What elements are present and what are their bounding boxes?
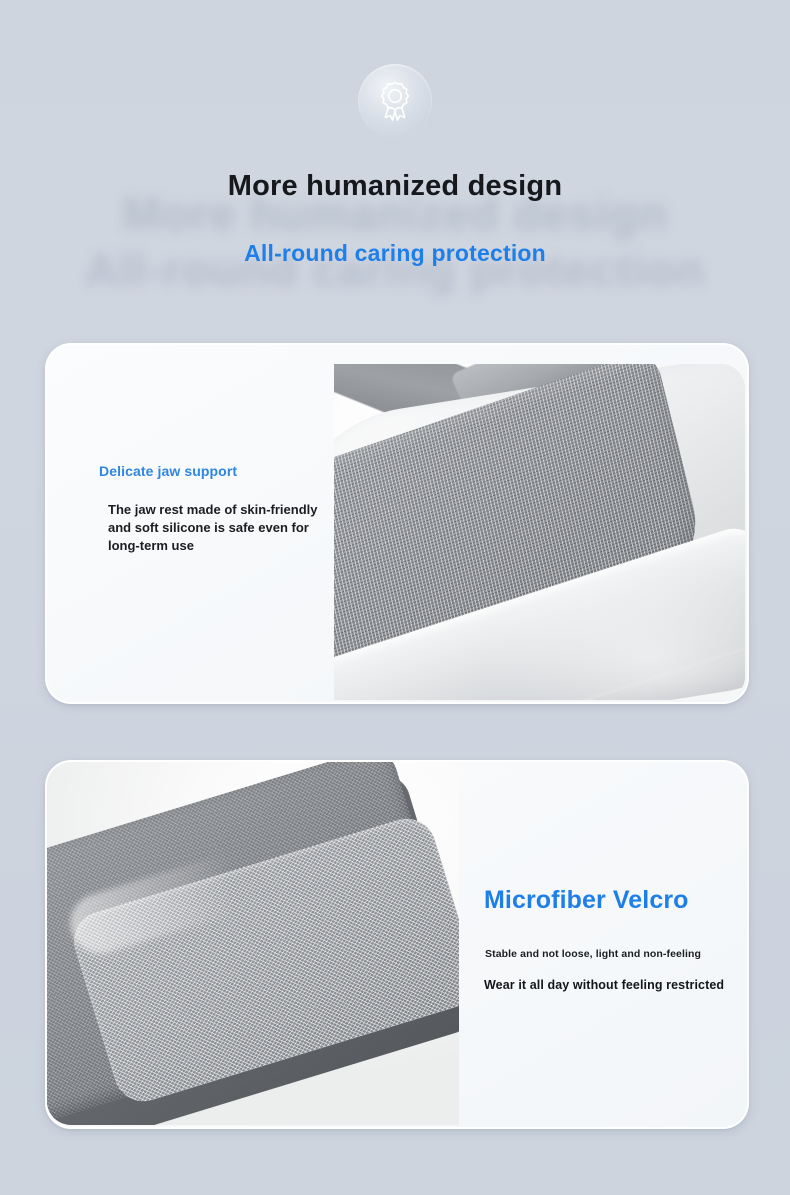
velcro-title: Microfiber Velcro [484,886,734,915]
velcro-text-block: Microfiber Velcro Stable and not loose, … [484,886,734,992]
feature-card-jaw-support: Delicate jaw support The jaw rest made o… [45,343,749,704]
feature-card-microfiber-velcro: Microfiber Velcro Stable and not loose, … [45,760,749,1129]
page-subtitle: All-round caring protection [0,240,790,267]
photo-gloss-overlay [334,364,745,700]
jaw-rest-silicone-closeup-photo [334,364,745,700]
jaw-support-kicker: Delicate jaw support [99,463,342,479]
hero-section: More humanized design All-round caring p… [0,0,790,320]
page-title: More humanized design [0,170,790,203]
jaw-support-body: The jaw rest made of skin-friendly and s… [108,501,342,555]
velcro-subline-1: Stable and not loose, light and non-feel… [485,948,734,960]
award-ribbon-icon [358,64,432,138]
product-feature-page: More humanized design All-round caring p… [0,0,790,1195]
microfiber-velcro-patch-photo [47,762,459,1125]
velcro-subline-2: Wear it all day without feeling restrict… [484,978,734,992]
jaw-support-text-block: Delicate jaw support The jaw rest made o… [62,463,342,555]
